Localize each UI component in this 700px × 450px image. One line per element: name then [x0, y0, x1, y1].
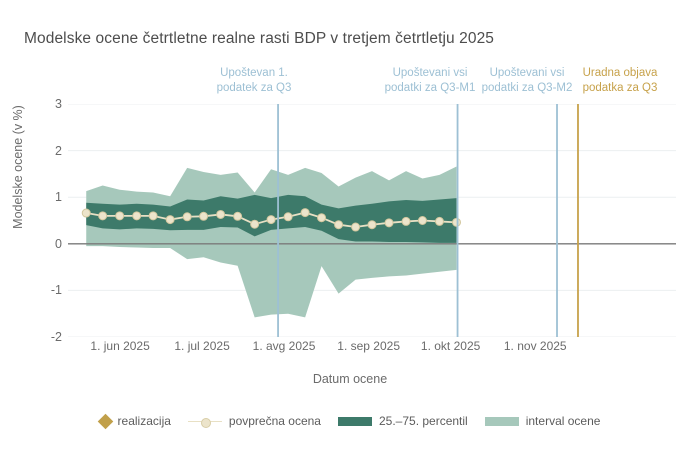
mean-marker [133, 212, 141, 220]
legend-item[interactable]: realizacija [100, 414, 171, 428]
legend-item[interactable]: povprečna ocena [188, 414, 321, 428]
legend-item[interactable]: interval ocene [485, 414, 601, 428]
mean-marker [385, 219, 393, 227]
event-label-line: podatka za Q3 [561, 81, 679, 96]
y-tick-label: 1 [32, 190, 62, 204]
mean-marker [149, 212, 157, 220]
mean-marker [99, 212, 107, 220]
legend-line-marker-icon [188, 416, 222, 426]
mean-marker [453, 218, 461, 226]
mean-marker [234, 212, 242, 220]
mean-marker [284, 213, 292, 221]
mean-marker [418, 217, 426, 225]
legend-item[interactable]: 25.–75. percentil [338, 414, 468, 428]
mean-marker [217, 210, 225, 218]
y-tick-label: -2 [32, 330, 62, 344]
chart-svg [68, 104, 676, 337]
mean-marker [183, 213, 191, 221]
legend-label: interval ocene [526, 414, 601, 428]
chart-card: Modelske ocene četrtletne realne rasti B… [0, 0, 700, 450]
event-label: Uradna objavapodatka za Q3 [561, 66, 679, 95]
mean-marker [267, 216, 275, 224]
x-tick-label: 1. sep 2025 [337, 339, 400, 353]
mean-marker [402, 217, 410, 225]
mean-marker [318, 214, 326, 222]
event-annotation-labels: Upoštevan 1.podatek za Q3Upoštevani vsip… [0, 66, 700, 100]
mean-marker [435, 217, 443, 225]
mean-marker [368, 221, 376, 229]
mean-marker [352, 223, 360, 231]
x-tick-label: 1. jul 2025 [174, 339, 229, 353]
mean-marker [301, 209, 309, 217]
x-tick-label: 1. okt 2025 [421, 339, 480, 353]
legend-label: povprečna ocena [229, 414, 321, 428]
chart-title: Modelske ocene četrtletne realne rasti B… [24, 30, 494, 48]
mean-marker [251, 220, 259, 228]
legend-diamond-icon [97, 413, 113, 429]
y-tick-label: 3 [32, 97, 62, 111]
x-tick-label: 1. avg 2025 [253, 339, 316, 353]
y-tick-label: 0 [32, 237, 62, 251]
mean-marker [335, 221, 343, 229]
y-axis-tick-labels: 3210-1-2 [30, 104, 62, 337]
plot-area [68, 104, 676, 337]
x-axis-title: Datum ocene [0, 372, 700, 386]
legend-label: 25.–75. percentil [379, 414, 468, 428]
event-label: Upoštevan 1.podatek za Q3 [195, 66, 313, 95]
legend-swatch-icon [485, 417, 519, 426]
x-tick-label: 1. jun 2025 [90, 339, 149, 353]
mean-marker [82, 209, 90, 217]
y-axis-title: Modelske ocene (v %) [11, 67, 25, 267]
y-tick-label: 2 [32, 144, 62, 158]
x-axis-tick-labels: 1. jun 20251. jul 20251. avg 20251. sep … [68, 339, 676, 357]
legend-swatch-icon [338, 417, 372, 426]
mean-marker [200, 212, 208, 220]
event-label-line: Uradna objava [561, 66, 679, 81]
mean-marker [166, 216, 174, 224]
chart-legend: realizacijapovprečna ocena25.–75. percen… [0, 414, 700, 428]
mean-marker [116, 212, 124, 220]
event-label-line: podatek za Q3 [195, 81, 313, 96]
x-tick-label: 1. nov 2025 [504, 339, 567, 353]
y-tick-label: -1 [32, 283, 62, 297]
event-label-line: Upoštevan 1. [195, 66, 313, 81]
legend-label: realizacija [118, 414, 171, 428]
